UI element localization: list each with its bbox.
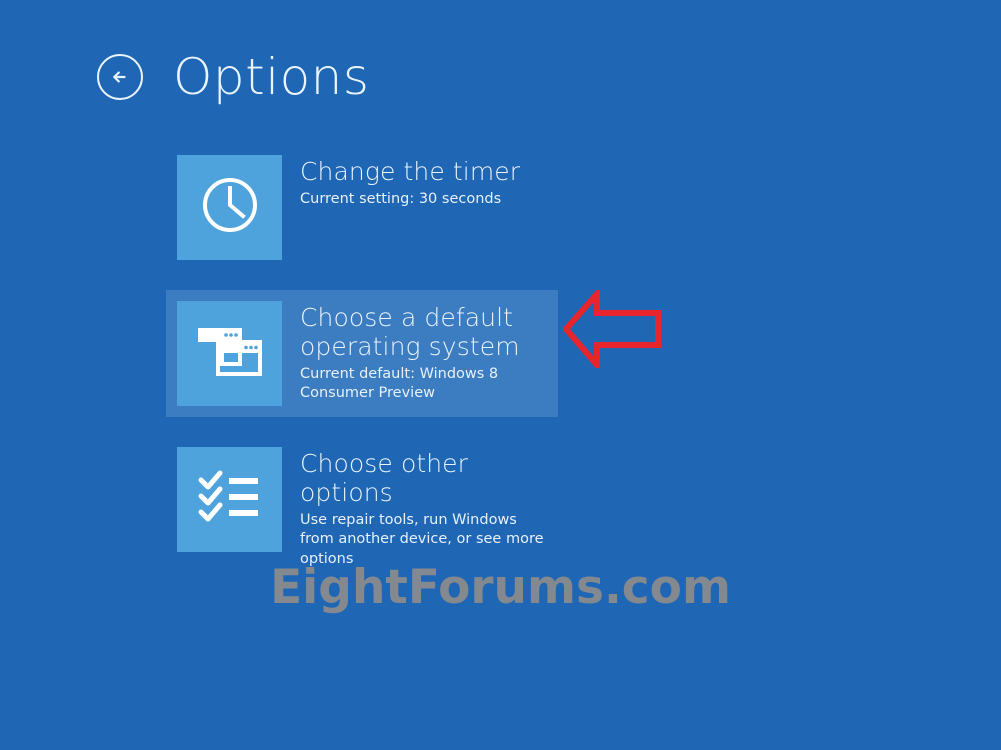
option-title: Change the timer <box>300 157 547 186</box>
option-row-change-timer[interactable]: Change the timer Current setting: 30 sec… <box>166 144 558 271</box>
page-header: Options <box>97 52 369 102</box>
options-list: Change the timer Current setting: 30 sec… <box>166 144 586 580</box>
option-tile-other-options <box>177 447 282 552</box>
option-subtitle: Current setting: 30 seconds <box>300 190 547 209</box>
two-windows-icon <box>196 320 264 387</box>
back-button[interactable] <box>97 54 143 100</box>
option-row-default-os[interactable]: Choose a default operating system Curren… <box>166 290 558 417</box>
checklist-icon <box>197 467 263 532</box>
option-text-other-options: Choose other options Use repair tools, r… <box>282 447 547 569</box>
clock-icon <box>199 174 261 241</box>
option-row-other-options[interactable]: Choose other options Use repair tools, r… <box>166 436 558 580</box>
option-title: Choose a default operating system <box>300 303 547 361</box>
page-title: Options <box>173 52 369 102</box>
back-arrow-circle-icon <box>107 64 133 90</box>
option-tile-default-os <box>177 301 282 406</box>
watermark-text: EightForums.com <box>0 560 1001 615</box>
option-text-default-os: Choose a default operating system Curren… <box>282 301 547 404</box>
option-text-change-timer: Change the timer Current setting: 30 sec… <box>282 155 547 209</box>
option-title: Choose other options <box>300 449 547 507</box>
option-subtitle: Current default: Windows 8 Consumer Prev… <box>300 365 547 404</box>
option-tile-change-timer <box>177 155 282 260</box>
